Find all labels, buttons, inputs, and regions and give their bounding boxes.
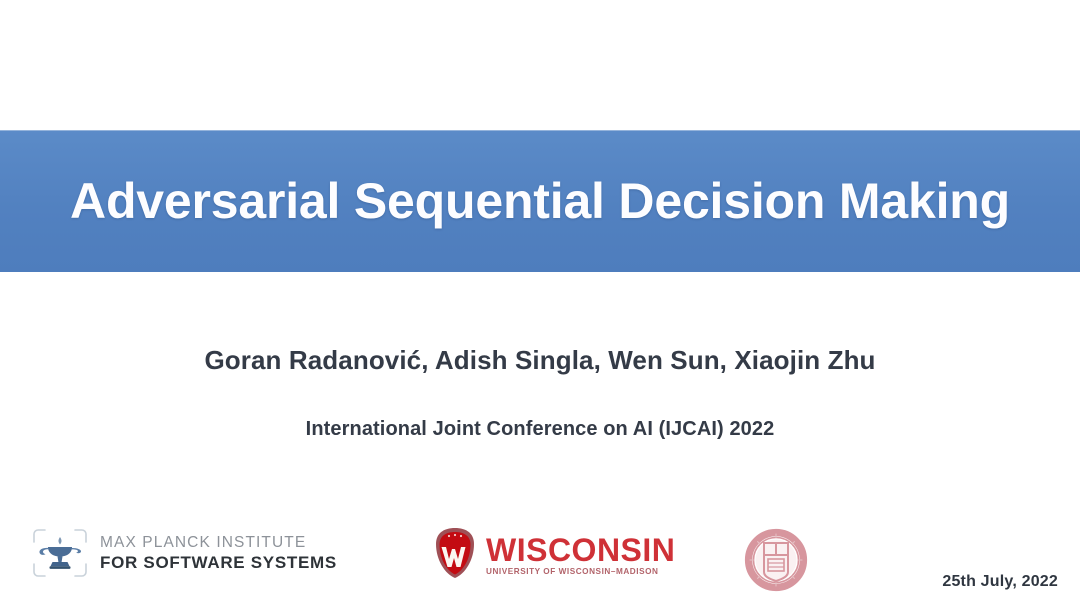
author-list: Goran Radanović, Adish Singla, Wen Sun, … [0, 345, 1080, 376]
title-banner: Adversarial Sequential Decision Making [0, 130, 1080, 272]
conference-name: International Joint Conference on AI (IJ… [0, 418, 1080, 441]
wisconsin-name: WISCONSIN [486, 534, 675, 566]
presentation-date: 25th July, 2022 [942, 573, 1058, 591]
page-title: Adversarial Sequential Decision Making [70, 175, 1010, 228]
wisconsin-subtitle: UNIVERSITY OF WISCONSIN–MADISON [486, 568, 675, 576]
logo-wisconsin: WISCONSIN UNIVERSITY OF WISCONSIN–MADISO… [430, 526, 675, 580]
logo-cornell [744, 528, 808, 592]
title-slide: Adversarial Sequential Decision Making G… [0, 0, 1080, 608]
max-planck-line-2: FOR SOFTWARE SYSTEMS [100, 554, 337, 571]
max-planck-wordmark: MAX PLANCK INSTITUTE FOR SOFTWARE SYSTEM… [100, 535, 337, 571]
wisconsin-w-crest-icon [430, 526, 480, 580]
max-planck-line-1: MAX PLANCK INSTITUTE [100, 535, 337, 551]
minerva-lamp-icon [32, 528, 88, 578]
wisconsin-wordmark: WISCONSIN UNIVERSITY OF WISCONSIN–MADISO… [486, 530, 675, 576]
logo-strip: MAX PLANCK INSTITUTE FOR SOFTWARE SYSTEM… [0, 520, 1080, 608]
logo-max-planck: MAX PLANCK INSTITUTE FOR SOFTWARE SYSTEM… [32, 528, 337, 578]
cornell-seal-icon [744, 528, 808, 597]
